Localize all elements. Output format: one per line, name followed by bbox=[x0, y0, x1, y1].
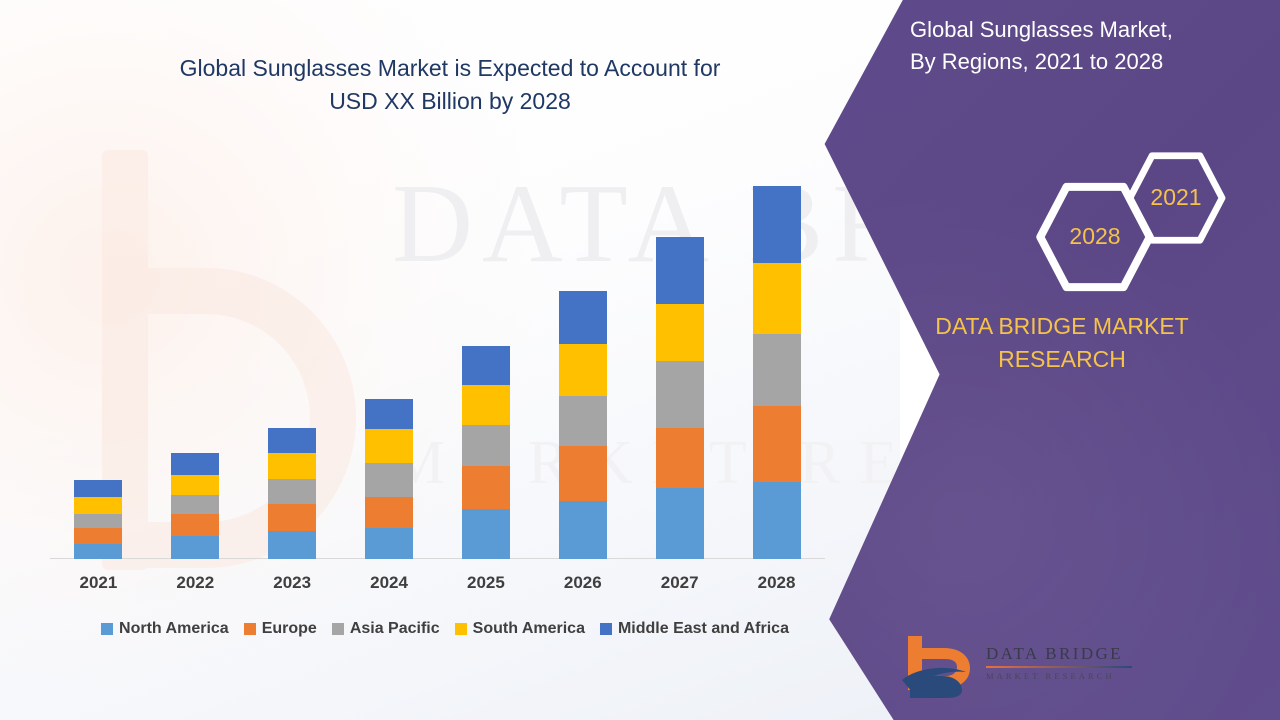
bar-segment bbox=[268, 428, 316, 453]
legend-item[interactable]: Europe bbox=[244, 620, 317, 638]
chart-panel: DATA BRIDGE MARKET RESEARCH Global Sungl… bbox=[0, 0, 900, 720]
bar-segment bbox=[171, 475, 219, 495]
bar-segment bbox=[559, 344, 607, 396]
bar-segment bbox=[365, 528, 413, 559]
bar-segment bbox=[462, 425, 510, 466]
bar-segment bbox=[171, 536, 219, 559]
bar-segment bbox=[74, 544, 122, 559]
legend-swatch-icon bbox=[455, 623, 467, 635]
logo-divider bbox=[986, 666, 1132, 668]
bar-segment bbox=[268, 453, 316, 479]
bar-segment bbox=[753, 406, 801, 482]
bar-segment bbox=[171, 453, 219, 475]
chart-title: Global Sunglasses Market is Expected to … bbox=[120, 52, 780, 117]
bar-segment bbox=[656, 304, 704, 361]
bar-segment bbox=[559, 291, 607, 344]
bar-segment bbox=[559, 501, 607, 559]
bar-column-2027 bbox=[656, 237, 704, 559]
bar-column-2023 bbox=[268, 428, 316, 559]
legend-label: Middle East and Africa bbox=[618, 620, 789, 638]
bar-column-2021 bbox=[74, 480, 122, 559]
hexagon-2021: 2021 bbox=[1128, 150, 1224, 246]
bar-segment bbox=[753, 263, 801, 334]
chart-title-line-2: USD XX Billion by 2028 bbox=[120, 85, 780, 118]
bar-segment bbox=[753, 334, 801, 406]
legend-swatch-icon bbox=[332, 623, 344, 635]
brand-name-line-1: DATA BRIDGE MARKET bbox=[880, 310, 1244, 343]
hexagon-2021-label: 2021 bbox=[1128, 184, 1224, 211]
bar-segment bbox=[559, 396, 607, 446]
logo-name-top: DATA BRIDGE bbox=[986, 644, 1136, 664]
bar-column-2024 bbox=[365, 399, 413, 559]
bar-column-2022 bbox=[171, 453, 219, 559]
x-axis-label-2022: 2022 bbox=[147, 573, 243, 593]
bar-segment bbox=[365, 497, 413, 528]
legend-swatch-icon bbox=[101, 623, 113, 635]
x-axis-label-2025: 2025 bbox=[438, 573, 534, 593]
bar-segment bbox=[365, 463, 413, 497]
panel-title: Global Sunglasses Market, By Regions, 20… bbox=[910, 14, 1280, 78]
legend-label: Asia Pacific bbox=[350, 620, 440, 638]
x-axis-label-2021: 2021 bbox=[50, 573, 146, 593]
bar-column-2025 bbox=[462, 346, 510, 559]
legend-label: Europe bbox=[262, 620, 317, 638]
bar-segment bbox=[268, 504, 316, 531]
legend-item[interactable]: Middle East and Africa bbox=[600, 620, 789, 638]
bar-column-2028 bbox=[753, 186, 801, 559]
bar-segment bbox=[656, 428, 704, 488]
panel-title-line-1: Global Sunglasses Market, bbox=[910, 14, 1224, 46]
legend-swatch-icon bbox=[244, 623, 256, 635]
legend-label: South America bbox=[473, 620, 585, 638]
x-axis-label-2028: 2028 bbox=[729, 573, 825, 593]
bar-segment bbox=[365, 429, 413, 463]
legend-item[interactable]: South America bbox=[455, 620, 585, 638]
legend-swatch-icon bbox=[600, 623, 612, 635]
bar-segment bbox=[74, 497, 122, 514]
bar-segment bbox=[365, 399, 413, 429]
bar-segment bbox=[462, 385, 510, 425]
x-axis-label-2027: 2027 bbox=[632, 573, 728, 593]
x-axis-label-2023: 2023 bbox=[244, 573, 340, 593]
brand-name: DATA BRIDGE MARKET RESEARCH bbox=[880, 310, 1280, 375]
bar-segment bbox=[462, 509, 510, 559]
bar-segment bbox=[171, 514, 219, 536]
brand-name-line-2: RESEARCH bbox=[880, 343, 1244, 376]
bar-segment bbox=[753, 482, 801, 559]
bar-segment bbox=[462, 346, 510, 385]
chart-title-line-1: Global Sunglasses Market is Expected to … bbox=[120, 52, 780, 85]
legend-label: North America bbox=[119, 620, 229, 638]
legend-item[interactable]: Asia Pacific bbox=[332, 620, 440, 638]
bar-column-2026 bbox=[559, 291, 607, 559]
bar-segment bbox=[656, 488, 704, 559]
hexagon-years: 2028 2021 bbox=[994, 150, 1224, 280]
bar-segment bbox=[656, 237, 704, 304]
company-logo: DATA BRIDGE MARKET RESEARCH bbox=[900, 630, 1130, 708]
slide-canvas: DATA BRIDGE MARKET RESEARCH Global Sungl… bbox=[0, 0, 1280, 720]
logo-text: DATA BRIDGE MARKET RESEARCH bbox=[986, 644, 1136, 681]
bar-segment bbox=[268, 531, 316, 559]
bar-segment bbox=[74, 514, 122, 528]
x-axis-label-2026: 2026 bbox=[535, 573, 631, 593]
bar-segment bbox=[268, 479, 316, 504]
legend-item[interactable]: North America bbox=[101, 620, 229, 638]
logo-name-bottom: MARKET RESEARCH bbox=[986, 671, 1136, 681]
x-axis-label-2024: 2024 bbox=[341, 573, 437, 593]
chart-legend: North AmericaEuropeAsia PacificSouth Ame… bbox=[50, 616, 840, 642]
stacked-bar-group bbox=[50, 170, 825, 559]
bar-segment bbox=[462, 466, 510, 509]
bar-segment bbox=[656, 361, 704, 428]
bar-segment bbox=[74, 480, 122, 497]
bar-segment bbox=[559, 446, 607, 501]
bar-segment bbox=[171, 495, 219, 514]
panel-title-line-2: By Regions, 2021 to 2028 bbox=[910, 46, 1224, 78]
x-axis-labels: 20212022202320242025202620272028 bbox=[50, 573, 825, 599]
bar-segment bbox=[753, 186, 801, 263]
bar-segment bbox=[74, 528, 122, 544]
logo-mark-icon bbox=[900, 634, 978, 700]
